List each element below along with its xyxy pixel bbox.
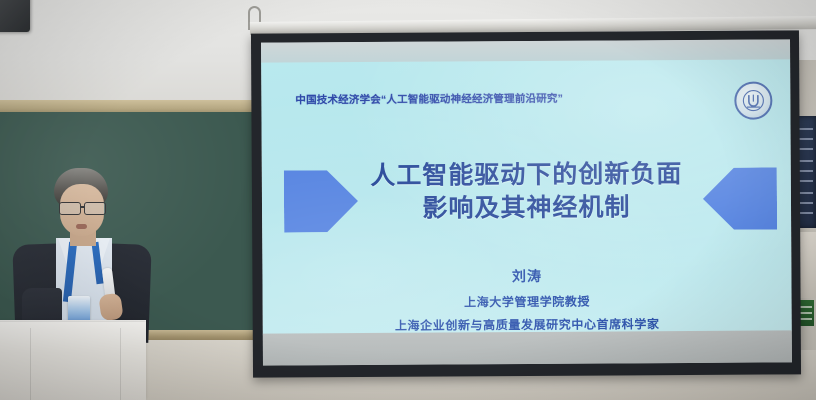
- glasses-icon: [58, 202, 108, 213]
- presenter-name: 刘涛: [262, 264, 791, 287]
- slide-title: 人工智能驱动下的创新负面 影响及其神经机制: [262, 157, 791, 226]
- ceiling-speaker-unit: [0, 0, 30, 32]
- lectern-podium: [0, 322, 146, 400]
- projection-surface: 中国技术经济学会“人工智能驱动神经经济管理前沿研究” 人工智能驱动下的创新负面 …: [261, 39, 792, 365]
- projection-screen: 中国技术经济学会“人工智能驱动神经经济管理前沿研究” 人工智能驱动下的创新负面 …: [251, 30, 801, 377]
- slide-title-line-1: 人工智能驱动下的创新负面: [262, 157, 791, 193]
- presentation-slide: 中国技术经济学会“人工智能驱动神经经济管理前沿研究” 人工智能驱动下的创新负面 …: [261, 59, 792, 334]
- presenter-affiliation-1: 上海大学管理学院教授: [263, 291, 792, 311]
- podium-seam: [30, 328, 31, 400]
- mouth: [76, 224, 87, 229]
- lecture-hall-scene: 中国技术经济学会“人工智能驱动神经经济管理前沿研究” 人工智能驱动下的创新负面 …: [0, 0, 816, 400]
- hand-right: [98, 293, 123, 322]
- slide-header-text: 中国技术经济学会“人工智能驱动神经经济管理前沿研究”: [295, 91, 563, 108]
- university-seal-logo: [734, 81, 772, 119]
- screen-bottom-margin: [263, 330, 792, 365]
- podium-seam-2: [120, 328, 121, 400]
- slide-title-line-2: 影响及其神经机制: [262, 190, 791, 226]
